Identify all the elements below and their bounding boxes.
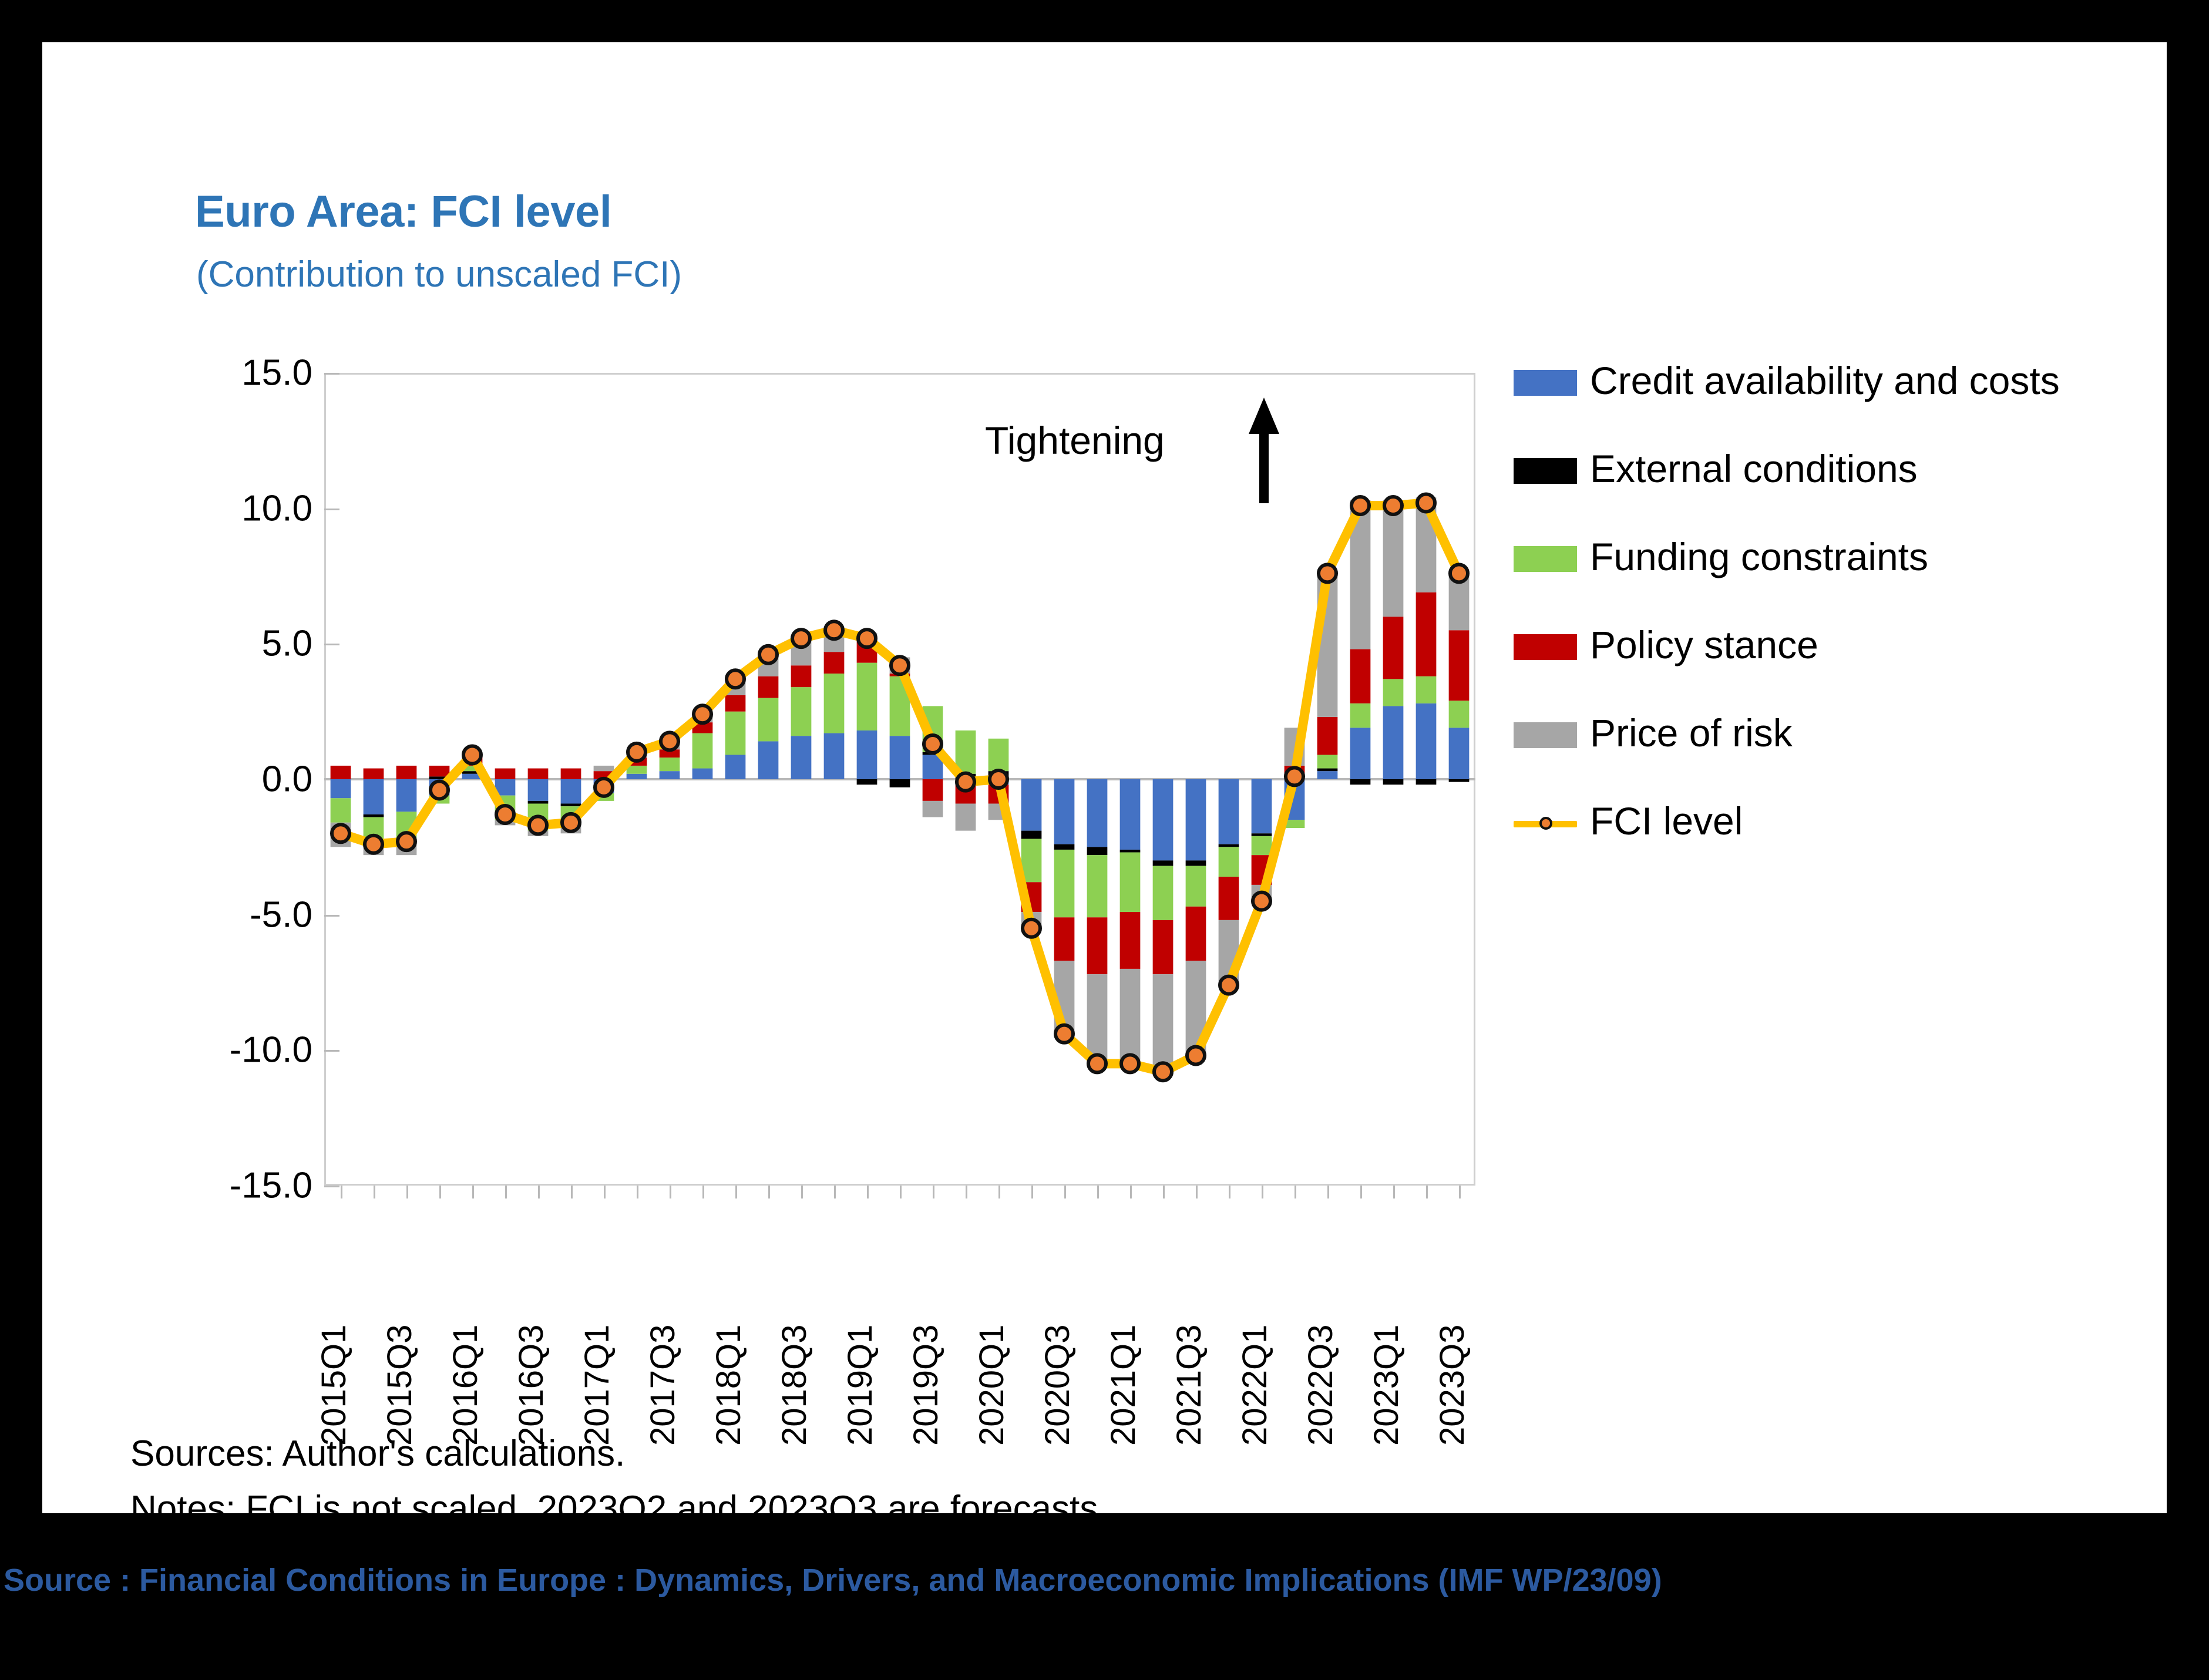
bar-segment-policy: [495, 769, 516, 779]
legend-item-policy[interactable]: Policy stance: [1514, 624, 2154, 687]
bar-segment-policy: [923, 779, 943, 801]
y-axis: 15.010.05.00.0-5.0-10.0-15.0: [148, 373, 312, 1186]
fci-marker-2016Q4: [562, 814, 580, 831]
bar-segment-credit: [1416, 703, 1437, 779]
arrow-up-icon: [1246, 398, 1282, 503]
bar-2018Q3: [791, 638, 812, 779]
legend-label: External conditions: [1590, 447, 1918, 491]
y-tick-label: -15.0: [160, 1165, 312, 1207]
bar-segment-price: [1383, 500, 1404, 617]
bar-segment-policy: [561, 769, 581, 779]
bar-segment-external: [1186, 860, 1206, 866]
bar-segment-funding: [1087, 855, 1108, 917]
x-tick-mark: [538, 1186, 540, 1198]
tightening-label: Tightening: [985, 418, 1165, 463]
fci-marker-2020Q1: [990, 770, 1007, 788]
legend-swatch-icon: [1514, 722, 1577, 748]
bar-segment-price: [1087, 974, 1108, 1063]
bar-segment-external: [1350, 779, 1371, 785]
bar-segment-policy: [396, 766, 417, 779]
y-tick-label: -10.0: [160, 1029, 312, 1071]
bar-segment-external: [1054, 844, 1075, 850]
bar-segment-policy: [1186, 907, 1206, 961]
bar-segment-price: [1153, 974, 1174, 1072]
bar-segment-funding: [1219, 847, 1239, 877]
bar-segment-credit: [1120, 779, 1141, 850]
bar-segment-credit: [725, 755, 746, 779]
bar-segment-funding: [1317, 755, 1338, 768]
x-tick-label: 2021Q1: [1104, 1325, 1143, 1446]
bar-segment-funding: [857, 663, 877, 730]
legend-swatch-icon: [1514, 634, 1577, 660]
fci-marker-2019Q3: [924, 735, 942, 753]
bar-2022Q4: [1350, 500, 1371, 785]
x-tick-label: 2023Q3: [1433, 1325, 1472, 1446]
bar-segment-policy: [429, 766, 450, 776]
bar-segment-credit: [1186, 779, 1206, 860]
bar-segment-external: [1416, 779, 1437, 785]
fci-marker-2020Q3: [1055, 1025, 1073, 1043]
bar-segment-credit: [824, 733, 845, 779]
x-tick-mark: [1393, 1186, 1395, 1198]
bar-segment-credit: [660, 771, 680, 779]
bar-2018Q4: [824, 630, 845, 779]
x-tick-mark: [1196, 1186, 1198, 1198]
legend-item-price[interactable]: Price of risk: [1514, 712, 2154, 775]
bar-segment-funding: [1054, 850, 1075, 917]
x-tick-label: 2022Q1: [1235, 1325, 1275, 1446]
fci-marker-2016Q2: [496, 806, 514, 823]
bar-segment-funding: [1252, 836, 1272, 855]
bar-segment-credit: [396, 779, 417, 812]
bar-2023Q1: [1383, 500, 1404, 785]
bar-2021Q3: [1186, 779, 1206, 1056]
bar-segment-policy: [1054, 917, 1075, 961]
bar-2020Q4: [1087, 779, 1108, 1063]
fci-marker-2018Q2: [759, 646, 777, 664]
bar-segment-credit: [1054, 779, 1075, 844]
bar-segment-external: [364, 814, 384, 817]
bar-segment-credit: [1153, 779, 1174, 860]
y-tick-mark: [324, 509, 339, 510]
x-tick-mark: [1031, 1186, 1033, 1198]
legend-swatch-icon: [1514, 370, 1577, 396]
bar-segment-policy: [725, 695, 746, 712]
fci-marker-2018Q3: [792, 629, 810, 647]
bar-segment-external: [890, 779, 910, 787]
y-tick-label: 0.0: [160, 759, 312, 800]
bar-segment-funding: [660, 757, 680, 771]
fci-marker-2022Q4: [1351, 497, 1369, 514]
x-tick-mark: [735, 1186, 737, 1198]
x-tick-mark: [900, 1186, 902, 1198]
bar-segment-funding: [791, 687, 812, 736]
bar-segment-credit: [1383, 706, 1404, 779]
y-tick-mark: [324, 1186, 339, 1187]
fci-marker-2017Q2: [628, 743, 645, 761]
bar-segment-funding: [1350, 703, 1371, 728]
fci-marker-2022Q1: [1253, 893, 1270, 910]
x-tick-mark: [1459, 1186, 1461, 1198]
bar-segment-external: [857, 779, 877, 785]
bar-segment-funding: [824, 674, 845, 733]
bar-segment-external: [1383, 779, 1404, 785]
x-tick-mark: [998, 1186, 1000, 1198]
fci-marker-2016Q1: [463, 746, 481, 763]
bar-2021Q2: [1153, 779, 1174, 1072]
x-tick-mark: [1064, 1186, 1066, 1198]
legend-label: Funding constraints: [1590, 536, 1928, 579]
fci-marker-2022Q3: [1319, 564, 1336, 582]
bar-segment-credit: [857, 730, 877, 779]
fci-marker-2015Q4: [431, 781, 448, 799]
legend-item-fci[interactable]: FCI level: [1514, 800, 2154, 863]
bar-segment-funding: [1120, 853, 1141, 912]
legend-swatch-icon: [1514, 546, 1577, 572]
bar-segment-credit: [692, 769, 713, 779]
fci-marker-2017Q3: [661, 732, 678, 750]
chart-notes: Sources: Author's calculations.Notes: FC…: [130, 1428, 1108, 1538]
bar-segment-credit: [1252, 779, 1272, 833]
legend-label: Policy stance: [1590, 624, 1818, 667]
fci-marker-2016Q3: [529, 816, 547, 834]
bar-segment-external: [1449, 779, 1470, 782]
x-tick-mark: [768, 1186, 770, 1198]
bar-segment-external: [1021, 831, 1042, 839]
bar-segment-credit: [364, 779, 384, 814]
bar-segment-credit: [890, 736, 910, 779]
plot-area: [324, 373, 1475, 1186]
x-tick-mark: [472, 1186, 474, 1198]
bar-2023Q2: [1416, 497, 1437, 785]
fci-marker-2023Q2: [1417, 494, 1435, 511]
bar-segment-credit: [1317, 771, 1338, 779]
x-tick-label: 2021Q3: [1169, 1325, 1209, 1446]
bar-segment-external: [1087, 847, 1108, 855]
bar-segment-external: [1317, 769, 1338, 772]
y-tick-mark: [324, 1050, 339, 1052]
bar-segment-credit: [1350, 728, 1371, 779]
y-tick-mark: [324, 915, 339, 917]
x-tick-mark: [604, 1186, 606, 1198]
chart-subtitle: (Contribution to unscaled FCI): [196, 254, 682, 295]
bar-segment-policy: [1350, 649, 1371, 703]
bar-2019Q1: [857, 633, 877, 785]
bar-segment-policy: [1120, 912, 1141, 969]
x-tick-mark: [702, 1186, 704, 1198]
bar-segment-policy: [791, 665, 812, 687]
bar-2018Q2: [758, 655, 779, 779]
x-tick-mark: [1163, 1186, 1165, 1198]
fci-marker-2018Q1: [727, 670, 744, 688]
bar-segment-credit: [1021, 779, 1042, 831]
bar-segment-credit: [627, 774, 647, 779]
slide-card: Euro Area: FCI level (Contribution to un…: [42, 42, 2167, 1513]
bar-segment-external: [1120, 850, 1141, 853]
bar-segment-external: [1153, 860, 1174, 866]
x-tick-mark: [670, 1186, 671, 1198]
source-citation: Source : Financial Conditions in Europe …: [0, 1562, 2209, 1598]
bar-segment-credit: [561, 779, 581, 804]
bar-segment-funding: [1186, 866, 1206, 907]
bar-segment-funding: [988, 739, 1009, 771]
fci-marker-2015Q3: [398, 833, 415, 850]
bar-segment-price: [1120, 969, 1141, 1063]
legend-item-funding[interactable]: Funding constraints: [1514, 536, 2154, 599]
bar-segment-external: [528, 801, 549, 804]
chart-legend: Credit availability and costsExternal co…: [1514, 359, 2154, 888]
fci-marker-2023Q3: [1450, 564, 1468, 582]
legend-label: FCI level: [1590, 800, 1743, 843]
x-tick-mark: [834, 1186, 836, 1198]
chart-title: Euro Area: FCI level: [195, 186, 611, 237]
legend-label: Credit availability and costs: [1590, 359, 2060, 403]
x-tick-mark: [439, 1186, 441, 1198]
fci-marker-2018Q4: [825, 621, 843, 639]
legend-label: Price of risk: [1590, 712, 1793, 755]
bar-segment-price: [956, 804, 976, 831]
bar-segment-credit: [1449, 728, 1470, 779]
legend-item-external[interactable]: External conditions: [1514, 447, 2154, 511]
legend-item-credit[interactable]: Credit availability and costs: [1514, 359, 2154, 423]
bar-segment-external: [1219, 844, 1239, 847]
bar-segment-policy: [824, 652, 845, 674]
fci-marker-2020Q2: [1023, 920, 1040, 937]
y-tick-mark: [324, 644, 339, 645]
note-line: Notes: FCI is not scaled. 2023Q2 and 202…: [130, 1483, 1108, 1535]
x-tick-mark: [1130, 1186, 1132, 1198]
x-tick-mark: [966, 1186, 967, 1198]
fci-marker-2021Q2: [1154, 1063, 1172, 1080]
slide-root: Euro Area: FCI level (Contribution to un…: [0, 0, 2209, 1680]
x-tick-mark: [1097, 1186, 1099, 1198]
fci-marker-2021Q1: [1121, 1055, 1139, 1072]
fci-marker-2022Q2: [1286, 767, 1303, 785]
bar-segment-funding: [1416, 676, 1437, 703]
fci-marker-2020Q4: [1088, 1055, 1106, 1072]
bar-segment-credit: [1087, 779, 1108, 847]
x-tick-mark: [1262, 1186, 1263, 1198]
bar-segment-policy: [1317, 717, 1338, 755]
bar-segment-policy: [1087, 917, 1108, 974]
bar-segment-policy: [1383, 617, 1404, 679]
bar-segment-credit: [1219, 779, 1239, 844]
fci-marker-2015Q1: [332, 824, 349, 842]
bar-segment-policy: [1153, 920, 1174, 974]
x-tick-label: 2022Q3: [1301, 1325, 1340, 1446]
bar-2021Q1: [1120, 779, 1141, 1063]
bar-segment-policy: [528, 769, 549, 779]
bar-segment-policy: [1219, 877, 1239, 920]
bar-segment-policy: [364, 769, 384, 779]
x-tick-mark: [374, 1186, 375, 1198]
fci-marker-2017Q1: [595, 779, 613, 796]
fci-marker-2019Q1: [858, 629, 876, 647]
bar-segment-price: [923, 801, 943, 817]
x-tick-mark: [867, 1186, 869, 1198]
x-tick-mark: [1360, 1186, 1362, 1198]
bar-segment-price: [594, 766, 614, 771]
x-tick-label: 2023Q1: [1367, 1325, 1406, 1446]
x-tick-mark: [406, 1186, 408, 1198]
chart-canvas: [324, 373, 1475, 1186]
y-tick-label: 10.0: [160, 487, 312, 529]
fci-marker-2019Q2: [891, 656, 909, 674]
x-tick-mark: [1229, 1186, 1230, 1198]
bar-segment-credit: [758, 741, 779, 779]
x-tick-mark: [341, 1186, 342, 1198]
fci-marker-2021Q3: [1187, 1047, 1205, 1065]
bar-2023Q3: [1449, 571, 1470, 782]
x-tick-mark: [505, 1186, 507, 1198]
bar-segment-external: [1252, 833, 1272, 836]
bar-segment-funding: [1449, 701, 1470, 728]
fci-marker-2021Q4: [1220, 977, 1238, 994]
bar-segment-funding: [758, 698, 779, 742]
x-tick-mark: [1295, 1186, 1296, 1198]
bar-segment-credit: [331, 779, 351, 798]
fci-marker-2015Q2: [365, 836, 382, 853]
bar-segment-policy: [758, 676, 779, 698]
bar-segment-funding: [1153, 866, 1174, 920]
legend-swatch-icon: [1514, 458, 1577, 484]
x-axis: 2015Q12015Q32016Q12016Q32017Q12017Q32018…: [324, 1193, 1475, 1446]
fci-marker-2017Q4: [694, 705, 711, 723]
fci-marker-2023Q1: [1384, 497, 1402, 514]
source-band: Source : Financial Conditions in Europe …: [0, 1562, 2209, 1598]
note-line: Sources: Author's calculations.: [130, 1428, 1108, 1480]
bar-segment-policy: [1416, 592, 1437, 676]
x-tick-mark: [801, 1186, 803, 1198]
y-tick-label: 15.0: [160, 352, 312, 394]
bar-segment-funding: [725, 712, 746, 755]
bar-segment-credit: [791, 736, 812, 779]
x-tick-mark: [933, 1186, 934, 1198]
x-tick-mark: [571, 1186, 573, 1198]
fci-marker-2019Q4: [957, 773, 974, 791]
bar-2018Q1: [725, 679, 746, 779]
bar-segment-funding: [627, 766, 647, 774]
y-tick-label: -5.0: [160, 894, 312, 935]
bar-segment-credit: [528, 779, 549, 801]
x-tick-mark: [1327, 1186, 1329, 1198]
legend-line-marker-icon: [1514, 810, 1577, 836]
bar-segment-external: [561, 804, 581, 807]
bar-segment-funding: [331, 798, 351, 823]
bar-segment-policy: [331, 766, 351, 779]
bar-segment-funding: [1383, 679, 1404, 706]
bar-segment-funding: [692, 733, 713, 769]
y-tick-mark: [324, 373, 339, 375]
x-tick-mark: [1426, 1186, 1428, 1198]
x-tick-mark: [637, 1186, 638, 1198]
bar-segment-policy: [1449, 630, 1470, 701]
y-tick-label: 5.0: [160, 623, 312, 665]
